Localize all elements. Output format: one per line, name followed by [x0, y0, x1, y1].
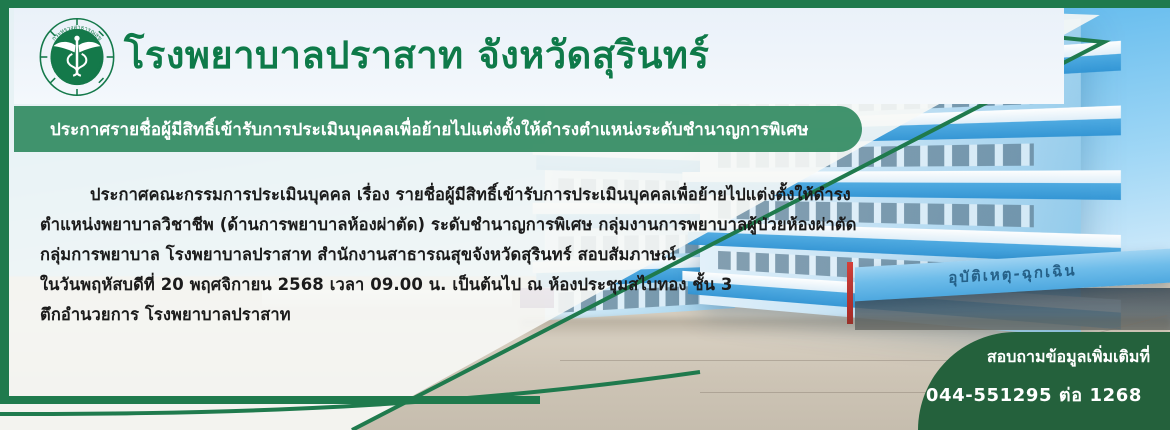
- body-line: ประกาศคณะกรรมการประเมินบุคคล เรื่อง รายช…: [40, 180, 800, 210]
- announcement-body: ประกาศคณะกรรมการประเมินบุคคล เรื่อง รายช…: [40, 180, 800, 330]
- ministry-of-public-health-seal-icon: กระทรวงสาธารณสุข MINISTRY OF PUBLIC HEAL…: [38, 18, 116, 96]
- body-line: ในวันพฤหัสบดีที่ 20 พฤศจิกายน 2568 เวลา …: [40, 270, 800, 300]
- body-line: กลุ่มการพยาบาล โรงพยาบาลปราสาท สำนักงานส…: [40, 240, 800, 270]
- body-line: ตำแหน่งพยาบาลวิชาชีพ (ด้านการพยาบาลห้องผ…: [40, 210, 800, 240]
- page-title: โรงพยาบาลปราสาท จังหวัดสุรินทร์: [124, 24, 709, 85]
- headline-banner: ประกาศรายชื่อผู้มีสิทธิ์เข้ารับการประเมิ…: [14, 106, 862, 152]
- body-line: ตึกอำนวยการ โรงพยาบาลปราสาท: [40, 300, 800, 330]
- contact-title: สอบถามข้อมูลเพิ่มเติมที่: [987, 345, 1150, 370]
- frame-rule-top: [0, 0, 1170, 8]
- header-bar: กระทรวงสาธารณสุข MINISTRY OF PUBLIC HEAL…: [14, 8, 1064, 104]
- headline-text: ประกาศรายชื่อผู้มีสิทธิ์เข้ารับการประเมิ…: [50, 116, 809, 143]
- frame-rule-left: [0, 0, 9, 404]
- frame-rule-bottom: [0, 396, 540, 404]
- contact-phone-number[interactable]: 044-551295 ต่อ 1268: [926, 380, 1142, 409]
- building-red-column: [847, 262, 853, 324]
- announcement-banner: อุบัติเหตุ-ฉุกเฉิน: [0, 0, 1170, 430]
